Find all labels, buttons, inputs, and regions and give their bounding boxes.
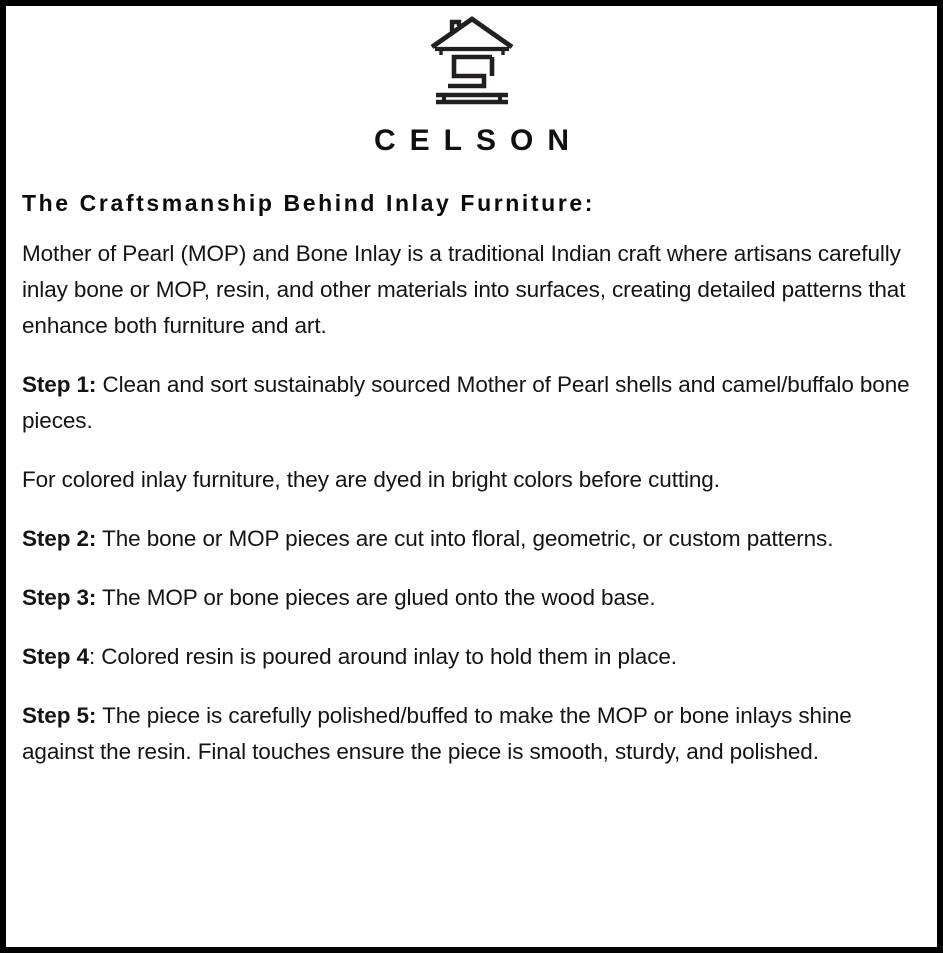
paragraph-step-3: Step 3: The MOP or bone pieces are glued… [22, 580, 912, 616]
paragraph-text: The MOP or bone pieces are glued onto th… [96, 585, 655, 610]
paragraph-text: Colored resin is poured around inlay to … [95, 644, 677, 669]
body-copy: Mother of Pearl (MOP) and Bone Inlay is … [22, 218, 927, 770]
paragraph-lead: Step 5: [22, 703, 96, 728]
brand-name: CELSON [16, 126, 927, 156]
paragraph-text: The bone or MOP pieces are cut into flor… [96, 526, 833, 551]
paragraph-step-4: Step 4: Colored resin is poured around i… [22, 639, 912, 675]
paragraph-text: The piece is carefully polished/buffed t… [22, 703, 852, 764]
paragraph-text: Clean and sort sustainably sourced Mothe… [22, 372, 910, 433]
brand-block: CELSON [16, 12, 927, 156]
paragraph-step-1: Step 1: Clean and sort sustainably sourc… [22, 367, 912, 439]
poster-card: CELSON The Craftsmanship Behind Inlay Fu… [0, 0, 943, 953]
house-monogram-logo-icon [426, 16, 518, 116]
page-title: The Craftsmanship Behind Inlay Furniture… [22, 190, 927, 218]
paragraph-lead: Step 4 [22, 644, 89, 669]
paragraph-text: For colored inlay furniture, they are dy… [22, 467, 720, 492]
paragraph-dye-note: For colored inlay furniture, they are dy… [22, 462, 912, 498]
paragraph-lead: Step 1: [22, 372, 96, 397]
paragraph-intro: Mother of Pearl (MOP) and Bone Inlay is … [22, 236, 912, 344]
paragraph-step-5: Step 5: The piece is carefully polished/… [22, 698, 912, 770]
paragraph-lead: Step 2: [22, 526, 96, 551]
paragraph-step-2: Step 2: The bone or MOP pieces are cut i… [22, 521, 912, 557]
paragraph-lead: Step 3: [22, 585, 96, 610]
paragraph-text: Mother of Pearl (MOP) and Bone Inlay is … [22, 241, 905, 338]
